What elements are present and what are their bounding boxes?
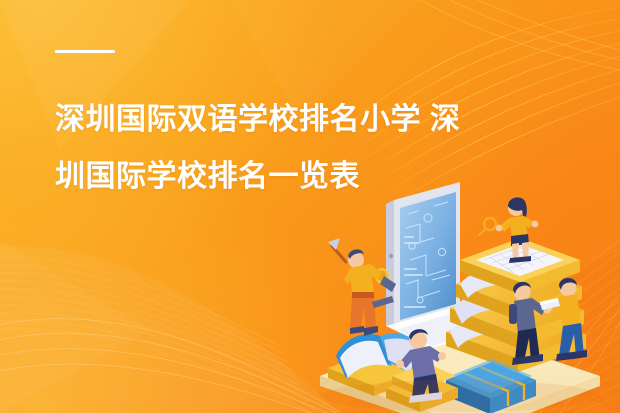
left-book-block [328, 333, 428, 396]
illustration-platform [320, 326, 600, 413]
small-book-blocks [386, 363, 458, 412]
blue-book-bundle [446, 359, 536, 413]
figure-miner-with-pickaxe [328, 238, 396, 336]
book-stack [446, 238, 586, 372]
headline-block: 深圳国际双语学校排名小学 深圳国际学校排名一览表 [55, 50, 535, 205]
coin-icon [375, 268, 389, 284]
figure-woman-on-stack [479, 197, 538, 263]
accent-rule [55, 50, 115, 53]
tablet-device [386, 182, 496, 348]
figure-standing-reader-navy [509, 282, 551, 365]
article-cover-banner: 深圳国际双语学校排名小学 深圳国际学校排名一览表 [0, 0, 620, 413]
isometric-books-illustration [300, 180, 620, 413]
figure-standing-reader-yellow [540, 278, 587, 361]
page-title: 深圳国际双语学校排名小学 深圳国际学校排名一览表 [55, 91, 485, 205]
figure-seated-reader [396, 329, 446, 403]
